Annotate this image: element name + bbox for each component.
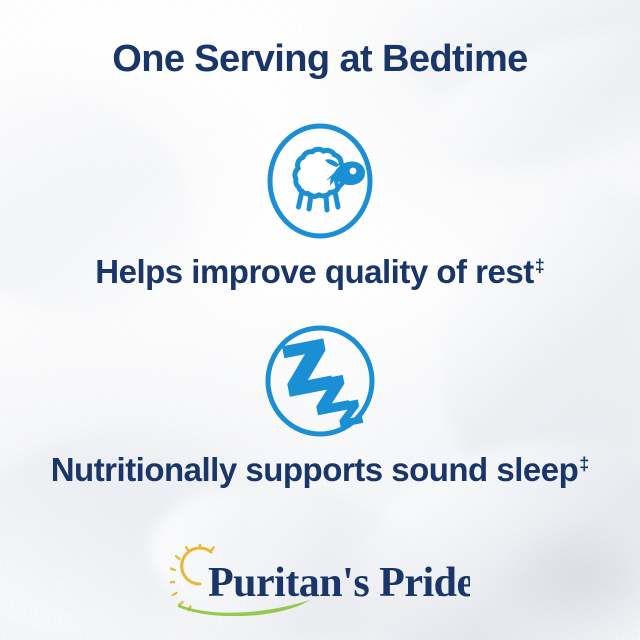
brand-trademark: . — [438, 584, 441, 599]
product-infographic: One Serving at Bedtime — [0, 0, 640, 640]
brand-wordmark: Puritan's Pride — [208, 560, 470, 606]
benefit-caption-rest: Helps improve quality of rest‡ — [0, 246, 640, 292]
sheep-icon — [264, 121, 376, 241]
benefit-caption-sleep: Nutritionally supports sound sleep‡ — [0, 444, 640, 490]
page-title: One Serving at Bedtime — [0, 36, 640, 82]
footnote-marker: ‡ — [535, 256, 545, 276]
footnote-marker: ‡ — [579, 454, 589, 474]
benefit-text-rest: Helps improve quality of rest — [95, 253, 533, 290]
brand-logo: Puritan's Pride . — [170, 544, 470, 616]
benefit-text-sleep: Nutritionally supports sound sleep — [51, 451, 579, 488]
zzz-sleep-icon — [261, 323, 379, 439]
